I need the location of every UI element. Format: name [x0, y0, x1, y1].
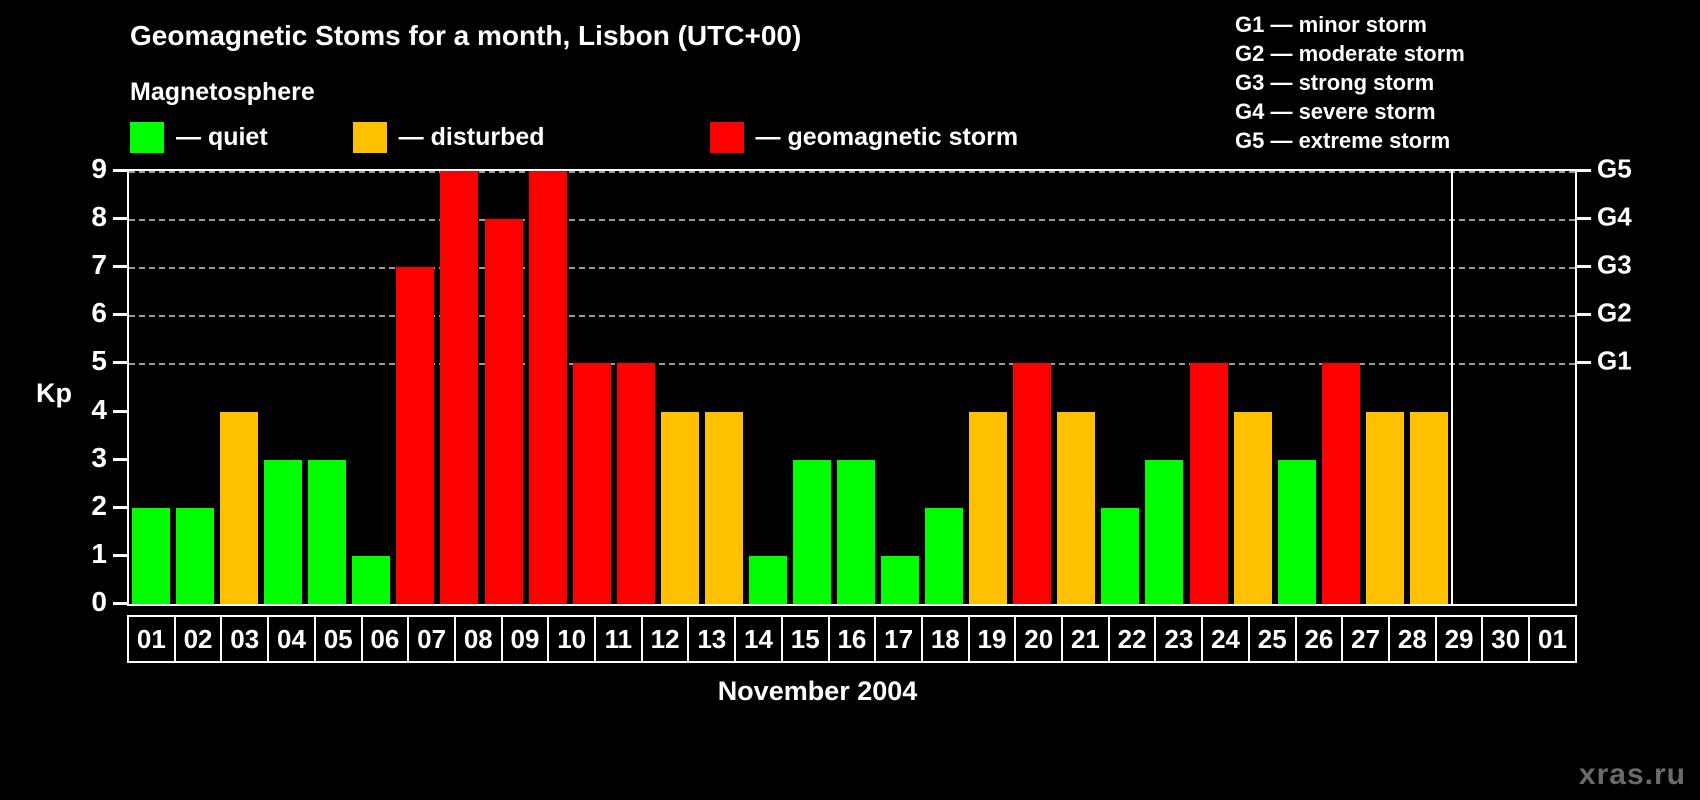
g-tick-G3: [1577, 265, 1591, 268]
g-tick-label-G1: G1: [1597, 346, 1632, 377]
bar-day-08: [440, 171, 478, 604]
g-tick-label-G3: G3: [1597, 250, 1632, 281]
day-label-23[interactable]: 24: [1203, 617, 1250, 661]
bar-slot: [1010, 171, 1054, 604]
bar-slot: [658, 171, 702, 604]
legend-swatch-storm: [710, 122, 744, 153]
y-tick-6: [113, 313, 127, 316]
day-label-28[interactable]: 29: [1437, 617, 1484, 661]
y-tick-label-8: 8: [91, 201, 107, 233]
bar-day-26: [1234, 412, 1272, 604]
bar-slot: [614, 171, 658, 604]
bar-day-30: [1410, 412, 1448, 604]
g-tick-G5: [1577, 169, 1591, 172]
legend-item-storm: — geomagnetic storm: [710, 122, 1019, 153]
watermark: xras.ru: [1579, 758, 1686, 792]
bar-day-06: [352, 556, 390, 604]
day-label-21[interactable]: 22: [1110, 617, 1157, 661]
bar-day-04: [264, 460, 302, 604]
bar-slot: [1098, 171, 1142, 604]
day-label-17[interactable]: 18: [923, 617, 970, 661]
y-tick-label-0: 0: [91, 586, 107, 618]
day-label-16[interactable]: 17: [876, 617, 923, 661]
x-axis-title-text: November 2004: [718, 676, 918, 707]
bar-slot: [482, 171, 526, 604]
day-label-5[interactable]: 06: [363, 617, 410, 661]
bar-slot: [1231, 171, 1275, 604]
bar-slot: [1275, 171, 1319, 604]
y-axis-title: Kp: [36, 378, 72, 409]
day-label-8[interactable]: 09: [503, 617, 550, 661]
gscale-line-3: G3 — strong storm: [1235, 68, 1465, 97]
day-label-18[interactable]: 19: [970, 617, 1017, 661]
gscale-key: G1 — minor stormG2 — moderate stormG3 — …: [1235, 10, 1465, 155]
bar-slot: [570, 171, 614, 604]
bar-slot: [878, 171, 922, 604]
bar-day-27: [1278, 460, 1316, 604]
bar-day-02: [176, 508, 214, 604]
y-tick-5: [113, 361, 127, 364]
legend-item-quiet: — quiet: [130, 122, 268, 153]
bar-slot: [393, 171, 437, 604]
day-label-25[interactable]: 26: [1297, 617, 1344, 661]
bar-day-11: [573, 363, 611, 604]
y-tick-1: [113, 554, 127, 557]
bar-day-15: [749, 556, 787, 604]
y-tick-label-4: 4: [91, 394, 107, 426]
day-label-30[interactable]: 01: [1530, 617, 1575, 661]
bar-series: [129, 171, 1451, 604]
day-label-2[interactable]: 03: [222, 617, 269, 661]
y-tick-3: [113, 458, 127, 461]
bar-slot: [173, 171, 217, 604]
gscale-line-1: G1 — minor storm: [1235, 10, 1465, 39]
y-tick-label-9: 9: [91, 153, 107, 185]
bar-slot: [1187, 171, 1231, 604]
x-axis-day-labels: 0102030405060708091011121314151617181920…: [127, 615, 1577, 663]
bar-slot: [702, 171, 746, 604]
bar-day-16: [793, 460, 831, 604]
y-tick-0: [113, 602, 127, 605]
day-label-20[interactable]: 21: [1063, 617, 1110, 661]
bar-slot: [217, 171, 261, 604]
day-label-24[interactable]: 25: [1250, 617, 1297, 661]
bar-day-10: [529, 171, 567, 604]
bar-day-24: [1145, 460, 1183, 604]
bar-day-23: [1101, 508, 1139, 604]
bar-day-05: [308, 460, 346, 604]
bar-slot: [129, 171, 173, 604]
bar-day-13: [661, 412, 699, 604]
bar-day-07: [396, 267, 434, 604]
bar-slot: [922, 171, 966, 604]
bar-slot: [526, 171, 570, 604]
y-tick-label-3: 3: [91, 442, 107, 474]
day-label-27[interactable]: 28: [1390, 617, 1437, 661]
g-scale-axis: G1G2G3G4G5: [1577, 169, 1697, 606]
legend-swatch-disturbed: [353, 122, 387, 153]
day-label-15[interactable]: 16: [830, 617, 877, 661]
bar-day-17: [837, 460, 875, 604]
y-tick-4: [113, 410, 127, 413]
legend-item-disturbed: — disturbed: [353, 122, 545, 153]
bar-day-22: [1057, 412, 1095, 604]
day-label-9[interactable]: 10: [549, 617, 596, 661]
bar-day-09: [485, 219, 523, 604]
y-tick-label-5: 5: [91, 345, 107, 377]
month-end-divider: [1451, 171, 1453, 604]
bar-slot: [746, 171, 790, 604]
legend-label-disturbed: — disturbed: [399, 123, 545, 152]
y-tick-label-7: 7: [91, 249, 107, 281]
x-axis-title: November 2004: [0, 676, 1700, 707]
y-tick-8: [113, 217, 127, 220]
bar-slot: [834, 171, 878, 604]
bar-slot: [1407, 171, 1451, 604]
day-label-19[interactable]: 20: [1016, 617, 1063, 661]
day-label-6[interactable]: 07: [409, 617, 456, 661]
day-label-22[interactable]: 23: [1156, 617, 1203, 661]
y-tick-2: [113, 506, 127, 509]
g-tick-label-G4: G4: [1597, 202, 1632, 233]
gscale-line-5: G5 — extreme storm: [1235, 126, 1465, 155]
g-tick-G4: [1577, 217, 1591, 220]
bar-slot: [790, 171, 834, 604]
bar-day-01: [132, 508, 170, 604]
y-tick-7: [113, 265, 127, 268]
bar-slot: [261, 171, 305, 604]
page-title: Geomagnetic Stoms for a month, Lisbon (U…: [130, 20, 801, 52]
legend-label-storm: — geomagnetic storm: [756, 123, 1019, 152]
bar-slot: [1054, 171, 1098, 604]
bar-day-28: [1322, 363, 1360, 604]
day-label-3[interactable]: 04: [269, 617, 316, 661]
plot-area: [127, 169, 1577, 606]
legend-label-quiet: — quiet: [176, 123, 268, 152]
day-label-11[interactable]: 12: [643, 617, 690, 661]
day-label-13[interactable]: 14: [736, 617, 783, 661]
g-tick-label-G2: G2: [1597, 298, 1632, 329]
g-tick-label-G5: G5: [1597, 154, 1632, 185]
bar-day-14: [705, 412, 743, 604]
gscale-line-2: G2 — moderate storm: [1235, 39, 1465, 68]
bar-day-20: [969, 412, 1007, 604]
y-tick-label-1: 1: [91, 538, 107, 570]
bar-day-29: [1366, 412, 1404, 604]
day-label-26[interactable]: 27: [1343, 617, 1390, 661]
bar-slot: [349, 171, 393, 604]
g-tick-G1: [1577, 361, 1591, 364]
y-tick-label-6: 6: [91, 297, 107, 329]
g-tick-G2: [1577, 313, 1591, 316]
bar-slot: [1363, 171, 1407, 604]
bar-day-18: [881, 556, 919, 604]
bar-slot: [305, 171, 349, 604]
day-label-4[interactable]: 05: [316, 617, 363, 661]
legend-title: Magnetosphere: [130, 78, 315, 107]
bar-slot: [966, 171, 1010, 604]
day-label-12[interactable]: 13: [689, 617, 736, 661]
y-tick-9: [113, 169, 127, 172]
day-label-7[interactable]: 08: [456, 617, 503, 661]
gscale-line-4: G4 — severe storm: [1235, 97, 1465, 126]
bar-day-03: [220, 412, 258, 604]
y-tick-label-2: 2: [91, 490, 107, 522]
day-label-1[interactable]: 02: [176, 617, 223, 661]
day-label-10[interactable]: 11: [596, 617, 643, 661]
bar-day-25: [1190, 363, 1228, 604]
bar-day-12: [617, 363, 655, 604]
day-label-14[interactable]: 15: [783, 617, 830, 661]
bar-day-21: [1013, 363, 1051, 604]
bar-day-19: [925, 508, 963, 604]
bar-slot: [1142, 171, 1186, 604]
legend-swatch-quiet: [130, 122, 164, 153]
bar-slot: [437, 171, 481, 604]
magnetosphere-legend: — quiet— disturbed— geomagnetic storm: [130, 122, 1018, 153]
day-label-0[interactable]: 01: [129, 617, 176, 661]
bar-slot: [1319, 171, 1363, 604]
day-label-29[interactable]: 30: [1483, 617, 1530, 661]
